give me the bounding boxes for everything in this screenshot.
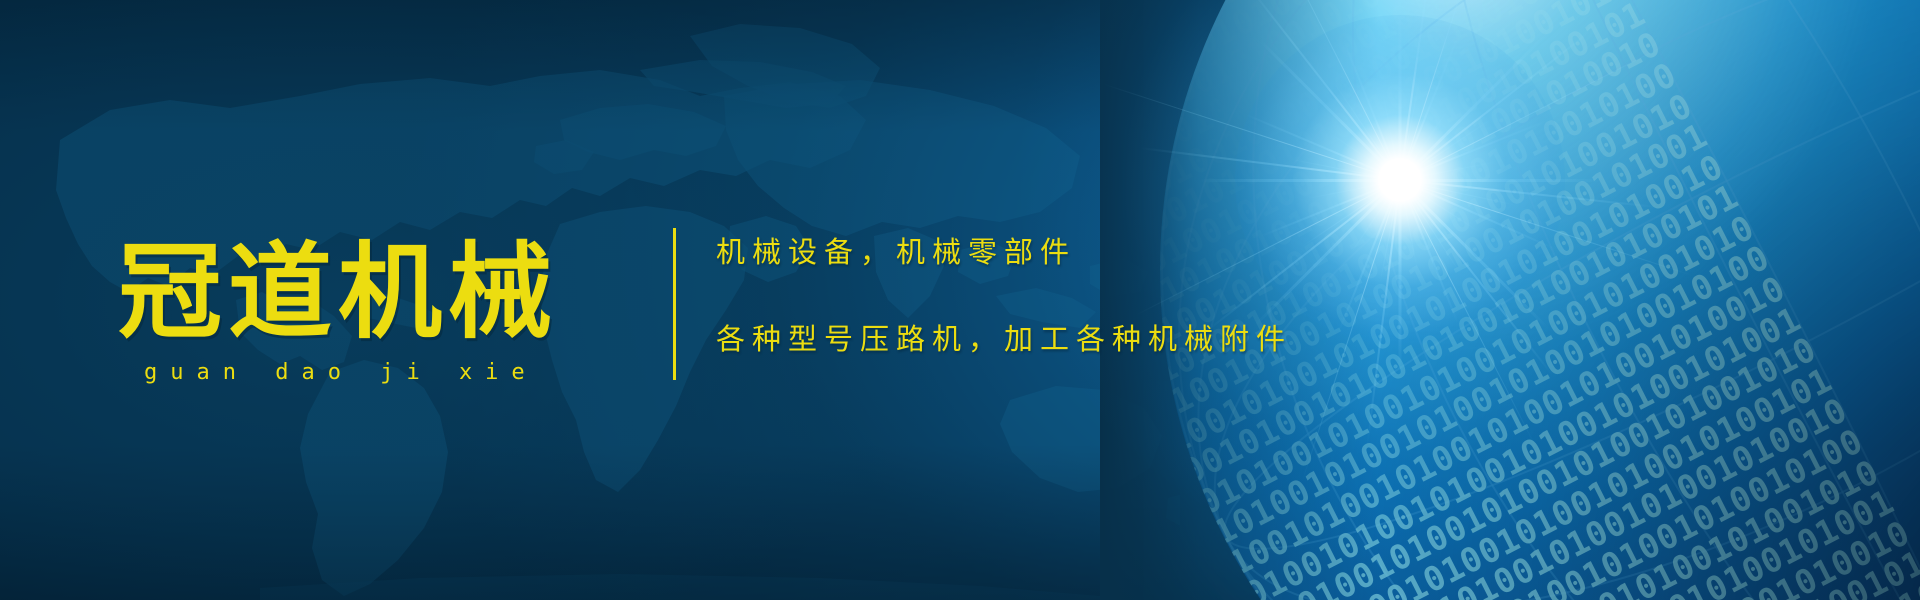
- tagline-line-2: 各种型号压路机，加工各种机械附件: [716, 325, 1292, 354]
- tagline-group: 机械设备，机械零部件 各种型号压路机，加工各种机械附件: [716, 238, 1292, 354]
- banner-content: 冠道机械 guan dao ji xie 机械设备，机械零部件 各种型号压路机，…: [0, 0, 1920, 600]
- vertical-divider: [673, 228, 676, 380]
- brand-name-cn: 冠道机械: [118, 240, 558, 344]
- brand-logo: 冠道机械 guan dao ji xie: [118, 240, 558, 385]
- hero-banner: 1001010010100101001010010100101001010010…: [0, 0, 1920, 600]
- tagline-line-1: 机械设备，机械零部件: [716, 238, 1292, 267]
- brand-name-pinyin: guan dao ji xie: [118, 360, 558, 385]
